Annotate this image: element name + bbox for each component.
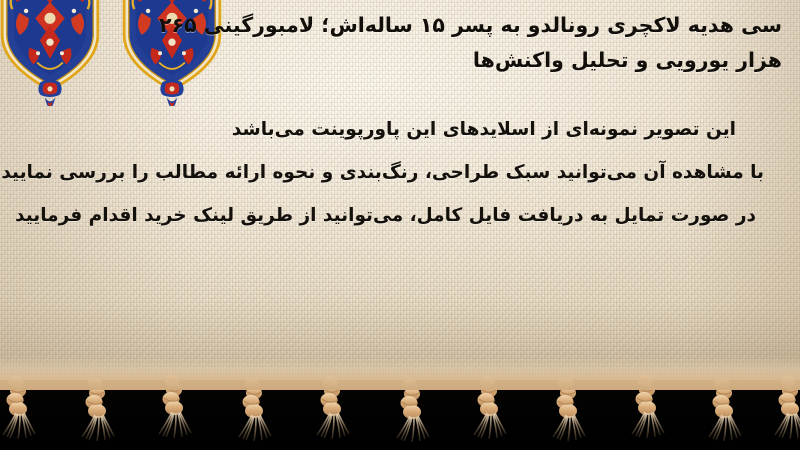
slide-canvas: سی هدیه لاکچری رونالدو به پسر ۱۵ ساله‌اش…: [0, 0, 800, 450]
bottom-black-band: [0, 380, 800, 450]
headline-line-1: سی هدیه لاکچری رونالدو به پسر ۱۵ ساله‌اش…: [159, 13, 782, 37]
body-line-3: در صورت تمایل به دریافت فایل کامل، می‌تو…: [16, 194, 772, 237]
slide-text-layer: سی هدیه لاکچری رونالدو به پسر ۱۵ ساله‌اش…: [0, 0, 800, 384]
body-line-2: با مشاهده آن می‌توانید سبک طراحی، رنگ‌بن…: [16, 151, 772, 194]
body-line-1: این تصویر نمونه‌ای از اسلایدهای این پاور…: [16, 108, 772, 151]
slide-body-text: این تصویر نمونه‌ای از اسلایدهای این پاور…: [16, 108, 772, 237]
headline-line-2: هزار یورویی و تحلیل واکنش‌ها: [12, 43, 782, 78]
page-title: سی هدیه لاکچری رونالدو به پسر ۱۵ ساله‌اش…: [12, 8, 782, 79]
